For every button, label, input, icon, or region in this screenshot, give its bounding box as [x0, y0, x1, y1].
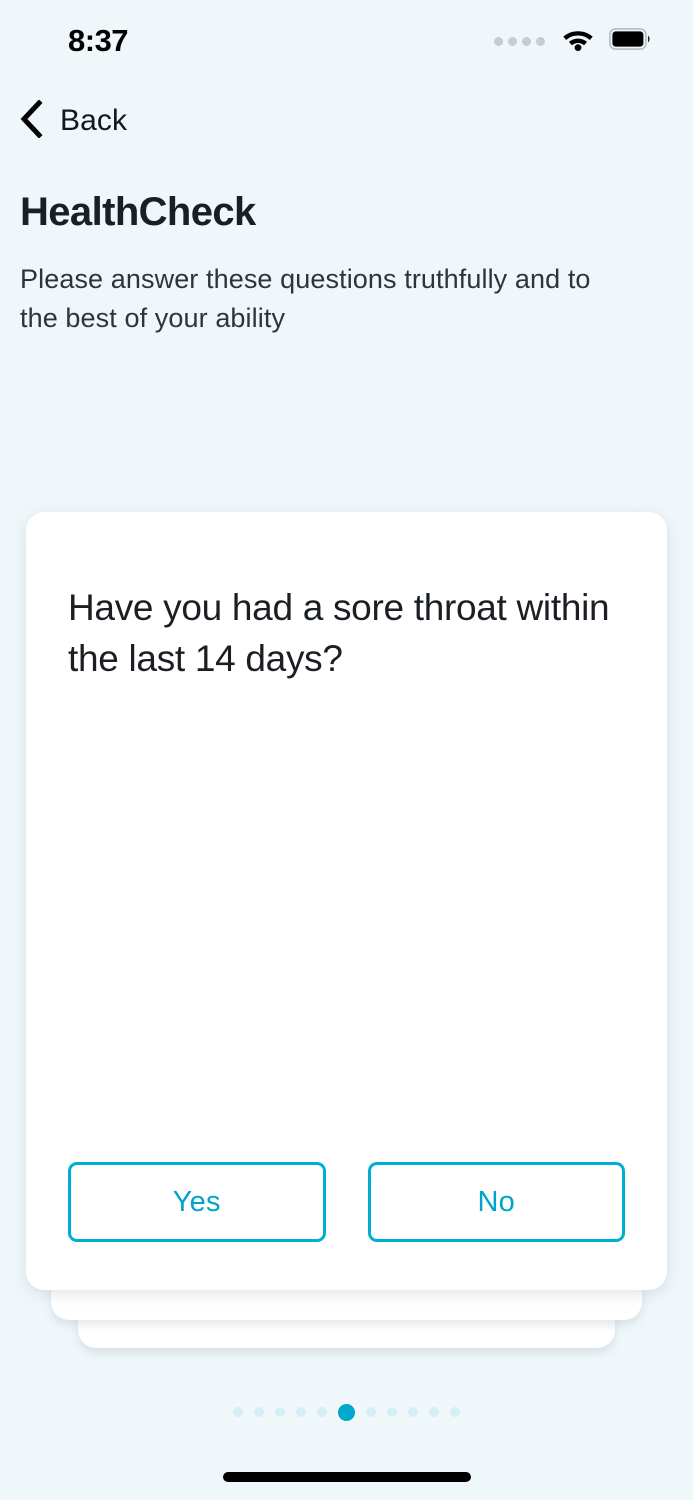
answer-yes-button[interactable]: Yes	[68, 1162, 326, 1242]
pagination-dot[interactable]	[296, 1407, 306, 1417]
status-time: 8:37	[68, 23, 128, 59]
question-card: Have you had a sore throat within the la…	[26, 512, 667, 1290]
pagination-dot[interactable]	[387, 1407, 397, 1417]
pagination-dot[interactable]	[366, 1407, 376, 1417]
question-text: Have you had a sore throat within the la…	[68, 582, 625, 684]
signal-dots-icon	[494, 37, 545, 46]
pagination-dot[interactable]	[450, 1407, 460, 1417]
pagination-dot[interactable]	[317, 1407, 327, 1417]
page-subtitle: Please answer these questions truthfully…	[20, 260, 630, 338]
battery-full-icon	[609, 28, 651, 55]
chevron-left-icon	[18, 100, 44, 143]
back-button[interactable]: Back	[18, 96, 127, 146]
wifi-icon	[561, 26, 595, 56]
back-button-label: Back	[60, 104, 127, 138]
page-title: HealthCheck	[20, 190, 256, 235]
pagination-dot-active[interactable]	[338, 1404, 355, 1421]
question-card-stack: Have you had a sore throat within the la…	[26, 512, 667, 1302]
pagination-dots	[0, 1400, 693, 1424]
status-icons	[494, 26, 651, 56]
pagination-dot[interactable]	[233, 1407, 243, 1417]
status-bar: 8:37	[0, 0, 693, 76]
pagination-dot[interactable]	[408, 1407, 418, 1417]
answer-button-row: Yes No	[68, 1162, 625, 1242]
home-indicator[interactable]	[223, 1472, 471, 1482]
pagination-dot[interactable]	[429, 1407, 439, 1417]
answer-no-button[interactable]: No	[368, 1162, 626, 1242]
pagination-dot[interactable]	[275, 1407, 285, 1417]
pagination-dot[interactable]	[254, 1407, 264, 1417]
